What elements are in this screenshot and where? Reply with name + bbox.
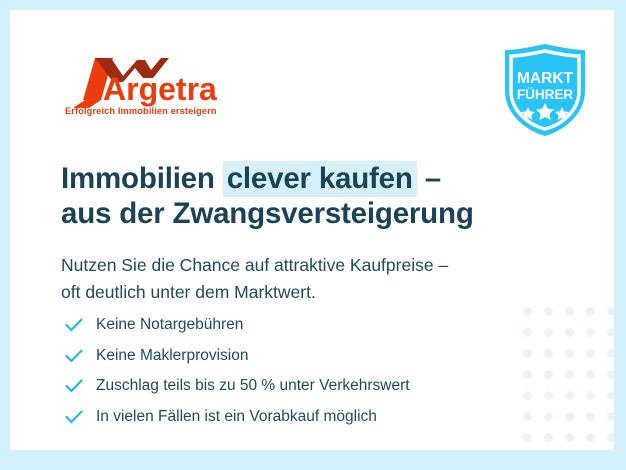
dot: [607, 391, 614, 400]
dot: [523, 307, 532, 316]
dot: [565, 307, 574, 316]
subheadline: Nutzen Sie die Chance auf attraktive Kau…: [61, 252, 541, 306]
dot: [523, 349, 532, 358]
dot: [586, 370, 595, 379]
check-icon: [65, 410, 91, 424]
banner-card: Argetra Erfolgreich Immobilien ersteiger…: [10, 10, 614, 450]
dot: [523, 391, 532, 400]
dot: [523, 412, 532, 421]
dot: [586, 349, 595, 358]
badge-line-2: FÜHRER: [517, 87, 573, 102]
dot: [586, 391, 595, 400]
dot: [607, 328, 614, 337]
list-item: Zuschlag teils bis zu 50 % unter Verkehr…: [65, 371, 505, 402]
dot: [607, 433, 614, 442]
logo-wordmark: Argetra: [103, 71, 217, 107]
dot: [544, 370, 553, 379]
dot: [607, 307, 614, 316]
dot: [544, 433, 553, 442]
subheadline-line-2: oft deutlich unter dem Marktwert.: [61, 279, 541, 306]
logo-tagline: Erfolgreich Immobilien ersteigern: [65, 106, 217, 116]
dot: [523, 328, 532, 337]
headline-part-2: –: [417, 162, 441, 195]
list-item: Keine Maklerprovision: [65, 341, 505, 372]
dot: [523, 370, 532, 379]
benefit-label: Keine Maklerprovision: [91, 347, 249, 365]
benefit-label: Keine Notargebühren: [91, 316, 243, 334]
promo-banner: Argetra Erfolgreich Immobilien ersteiger…: [0, 0, 626, 470]
badge-line-1: MARKT: [517, 70, 573, 87]
dot: [607, 412, 614, 421]
check-icon: [65, 349, 91, 363]
dot: [523, 433, 532, 442]
list-item: Keine Notargebühren: [65, 310, 505, 341]
dot: [586, 307, 595, 316]
headline: Immobilien clever kaufen – aus der Zwang…: [61, 161, 531, 231]
subheadline-line-1: Nutzen Sie die Chance auf attraktive Kau…: [61, 255, 448, 275]
check-icon: [65, 379, 91, 393]
dot: [586, 412, 595, 421]
list-item: In vielen Fällen ist ein Vorabkauf mögli…: [65, 402, 505, 433]
benefits-list: Keine Notargebühren Keine Maklerprovisio…: [65, 310, 505, 432]
headline-line-2: aus der Zwangsversteigerung: [61, 196, 531, 231]
dot: [544, 349, 553, 358]
argetra-logo[interactable]: Argetra Erfolgreich Immobilien ersteiger…: [65, 56, 245, 118]
dot: [544, 328, 553, 337]
dot: [565, 391, 574, 400]
dot: [565, 370, 574, 379]
headline-part-1: Immobilien: [61, 162, 223, 195]
benefit-label: In vielen Fällen ist ein Vorabkauf mögli…: [91, 408, 377, 426]
dot: [565, 412, 574, 421]
dot: [565, 328, 574, 337]
check-icon: [65, 318, 91, 332]
dot: [544, 391, 553, 400]
dot: [544, 412, 553, 421]
headline-highlight: clever kaufen: [223, 161, 417, 197]
dot: [565, 433, 574, 442]
dot: [586, 328, 595, 337]
dot: [565, 349, 574, 358]
dot-grid-decoration: [523, 307, 614, 450]
dot: [586, 433, 595, 442]
benefit-label: Zuschlag teils bis zu 50 % unter Verkehr…: [91, 377, 410, 395]
dot: [544, 307, 553, 316]
market-leader-badge: MARKT FÜHRER: [497, 41, 593, 139]
dot: [607, 349, 614, 358]
dot: [607, 370, 614, 379]
